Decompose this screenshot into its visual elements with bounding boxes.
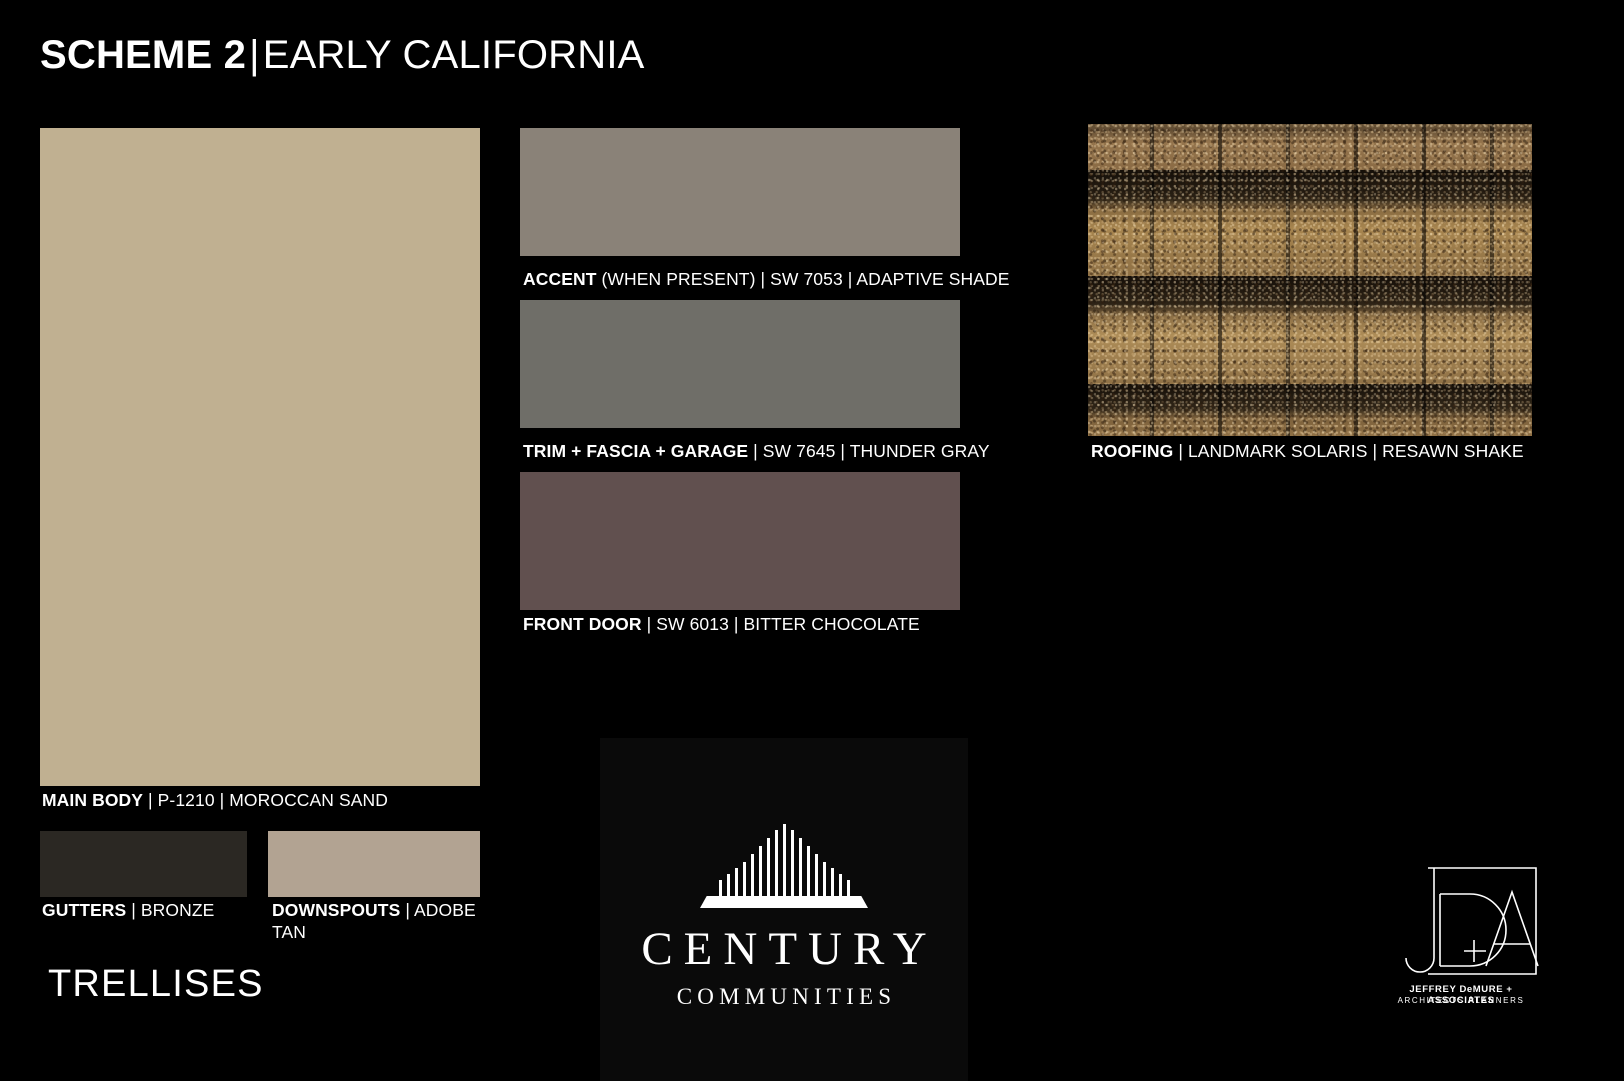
color-scheme-board: SCHEME 2|EARLY CALIFORNIA MAIN BODY | P-…	[0, 0, 1624, 1081]
title-scheme-name: EARLY CALIFORNIA	[263, 33, 645, 77]
swatch-trim-fascia-garage	[520, 300, 960, 428]
caption-accent-detail: | SW 7053 | ADAPTIVE SHADE	[761, 269, 1010, 289]
caption-trim-role: TRIM + FASCIA + GARAGE	[523, 441, 748, 461]
caption-front-door-role: FRONT DOOR	[523, 614, 642, 634]
title-separator: |	[246, 33, 263, 77]
caption-gutters-detail: | BRONZE	[131, 900, 214, 920]
caption-main-body-role: MAIN BODY	[42, 790, 143, 810]
caption-main-body: MAIN BODY | P-1210 | MOROCCAN SAND	[42, 789, 502, 811]
swatch-front-door	[520, 472, 960, 610]
section-heading-trellises: TRELLISES	[48, 963, 264, 1006]
caption-downspouts: DOWNSPOUTS | ADOBE TAN	[272, 899, 487, 944]
swatch-main-body	[40, 128, 480, 786]
century-subtitle: COMMUNITIES	[672, 984, 896, 1010]
title-scheme: SCHEME 2	[40, 33, 246, 77]
caption-roofing: ROOFING | LANDMARK SOLARIS | RESAWN SHAK…	[1091, 440, 1611, 462]
page-title: SCHEME 2|EARLY CALIFORNIA	[40, 33, 645, 78]
swatch-accent	[520, 128, 960, 256]
century-bars	[693, 824, 875, 896]
caption-gutters-role: GUTTERS	[42, 900, 126, 920]
caption-trim-detail: | SW 7645 | THUNDER GRAY	[753, 441, 989, 461]
caption-main-body-detail: | P-1210 | MOROCCAN SAND	[148, 790, 388, 810]
jda-monogram-icon	[1378, 862, 1544, 982]
caption-roofing-detail: | LANDMARK SOLARIS | RESAWN SHAKE	[1178, 441, 1523, 461]
swatch-roofing-shingle	[1088, 124, 1532, 436]
caption-accent-role: ACCENT	[523, 269, 597, 289]
caption-trim: TRIM + FASCIA + GARAGE | SW 7645 | THUND…	[523, 440, 1043, 462]
century-wordmark: CENTURY	[630, 926, 937, 973]
caption-accent: ACCENT (WHEN PRESENT) | SW 7053 | ADAPTI…	[523, 268, 1043, 290]
century-communities-logo: CENTURY COMMUNITIES	[600, 738, 968, 1081]
swatch-downspouts	[268, 831, 480, 897]
century-building-icon	[693, 826, 875, 908]
caption-front-door: FRONT DOOR | SW 6013 | BITTER CHOCOLATE	[523, 613, 1043, 635]
caption-accent-qualifier: (WHEN PRESENT)	[601, 269, 755, 289]
caption-gutters: GUTTERS | BRONZE	[42, 899, 262, 921]
jda-firm-discipline: ARCHITECTS PLANNERS	[1378, 996, 1544, 1005]
jda-logo: JEFFREY DeMURE + ASSOCIATES ARCHITECTS P…	[1378, 862, 1544, 1022]
century-base	[700, 896, 868, 908]
caption-front-door-detail: | SW 6013 | BITTER CHOCOLATE	[647, 614, 920, 634]
caption-roofing-role: ROOFING	[1091, 441, 1173, 461]
caption-downspouts-role: DOWNSPOUTS	[272, 900, 400, 920]
swatch-gutters	[40, 831, 247, 897]
shingle-granule-texture	[1088, 124, 1532, 436]
